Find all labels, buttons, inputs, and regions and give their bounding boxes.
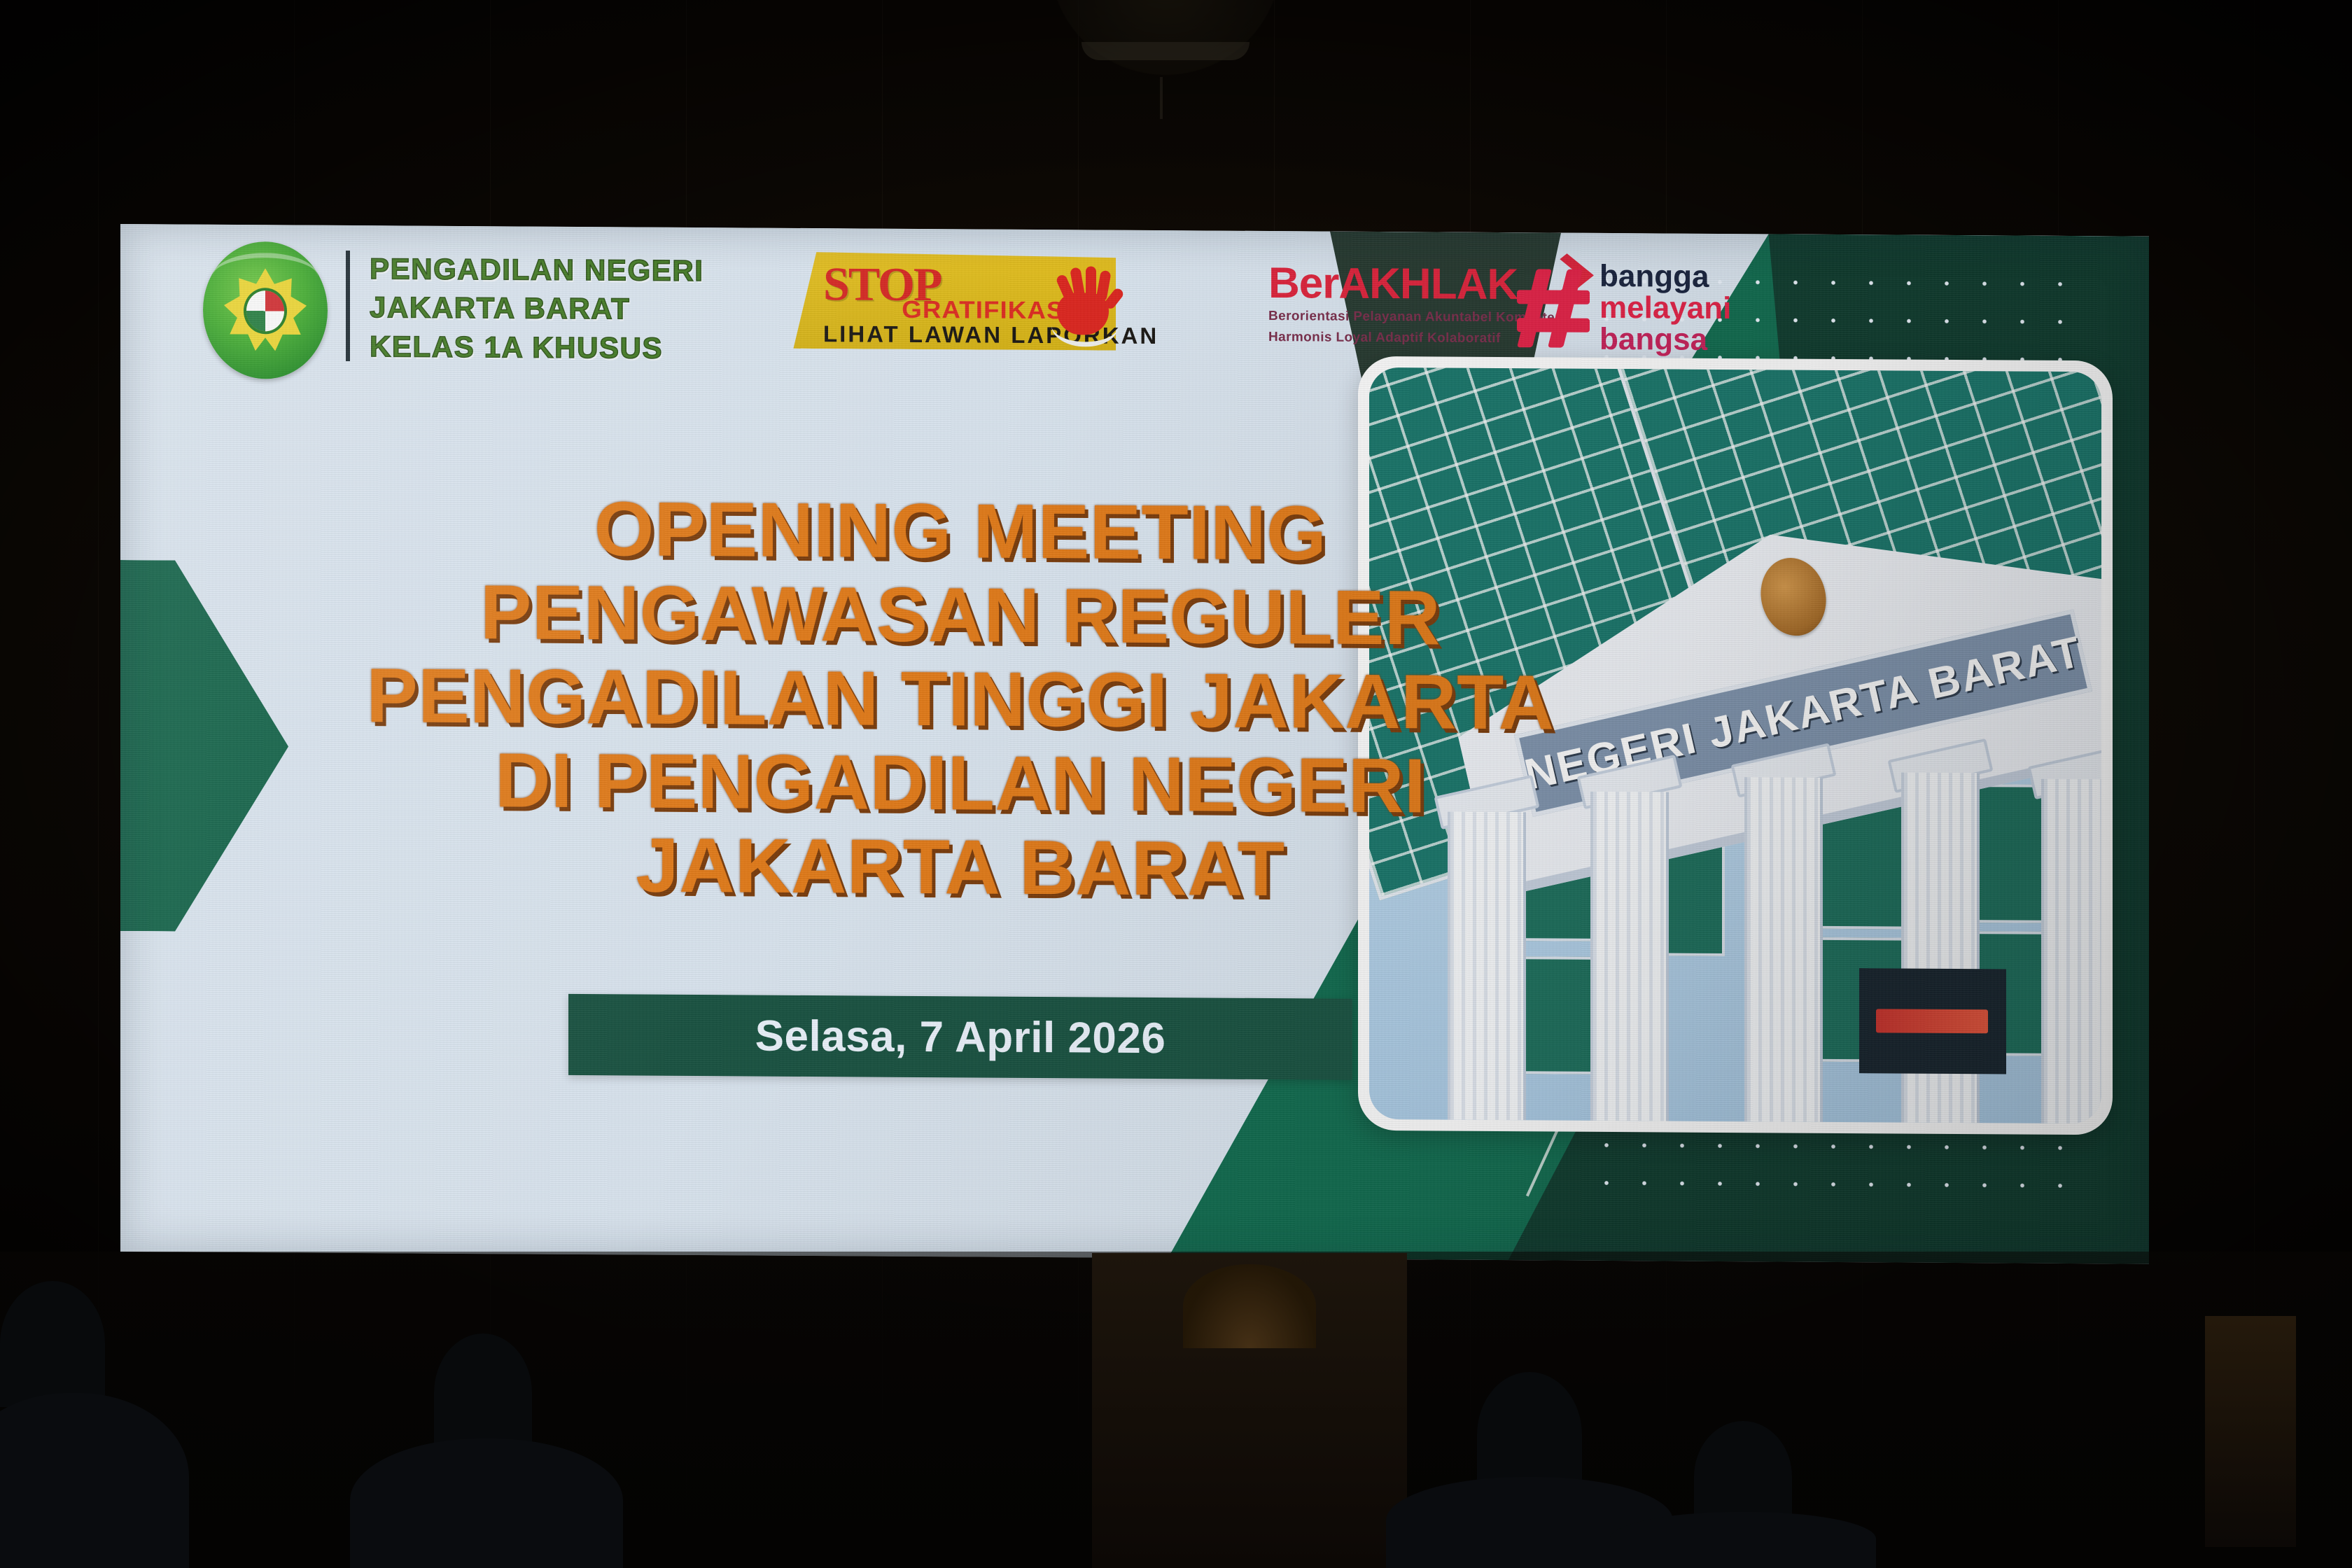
audience-silhouette [0, 1281, 105, 1407]
slide-header: PENGADILAN NEGERI JAKARTA BARAT KELAS 1A… [120, 224, 2149, 447]
red-stop-hand-icon [1051, 259, 1119, 338]
title-line-1: OPENING MEETING [267, 485, 1653, 577]
title-line-3: PENGADILAN TINGGI JAKARTA [267, 653, 1653, 745]
institution-name: PENGADILAN NEGERI JAKARTA BARAT KELAS 1A… [370, 249, 704, 367]
column [2041, 779, 2101, 1124]
date-banner: Selasa, 7 April 2026 [568, 994, 1352, 1080]
slide-title: OPENING MEETING PENGAWASAN REGULER PENGA… [267, 485, 1653, 913]
header-divider [346, 251, 350, 361]
audience-silhouette [350, 1438, 623, 1568]
left-chevron-decor [120, 559, 288, 932]
institution-line-2: JAKARTA BARAT [370, 288, 704, 329]
institution-line-3: KELAS 1A KHUSUS [370, 327, 704, 367]
slide-canvas: NEGERI JAKARTA BARAT [120, 224, 2149, 1264]
bangsa-line: bangsa [1599, 324, 1731, 356]
bangga-line: bangga [1599, 261, 1731, 293]
title-line-2: PENGAWASAN REGULER [267, 569, 1653, 661]
podium-ornament [1183, 1264, 1316, 1348]
melayani-line: melayani [1599, 293, 1731, 325]
entrance-neon-sign [1876, 1009, 1988, 1033]
hashtag-icon [1517, 269, 1590, 348]
institution-line-1: PENGADILAN NEGERI [370, 249, 704, 290]
date-text: Selasa, 7 April 2026 [755, 1011, 1166, 1063]
title-line-5: JAKARTA BARAT [267, 821, 1653, 913]
audience-silhouette [434, 1333, 532, 1452]
audience-silhouette [1610, 1512, 1876, 1568]
column [1744, 777, 1823, 1122]
right-wall-ornament [2205, 1316, 2296, 1547]
pengadilan-negeri-seal-icon [203, 241, 328, 379]
presentation-screen: NEGERI JAKARTA BARAT [120, 224, 2149, 1264]
title-line-4: DI PENGADILAN NEGERI [267, 737, 1653, 829]
